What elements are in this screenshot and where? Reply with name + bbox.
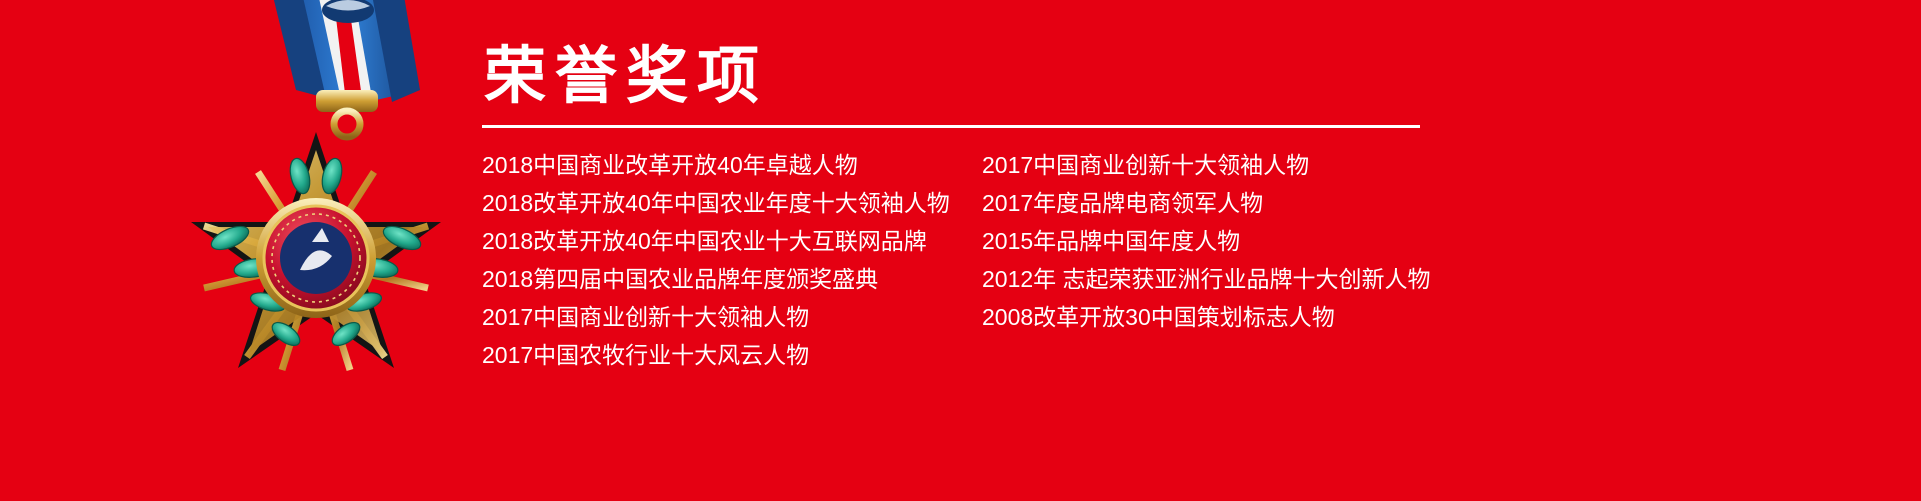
honor-medal-graphic	[120, 0, 480, 414]
medal-star	[191, 132, 441, 370]
award-item: 2018改革开放40年中国农业年度十大领袖人物	[482, 184, 982, 222]
banner-content: 荣誉奖项 2018中国商业改革开放40年卓越人物 2018改革开放40年中国农业…	[482, 44, 1902, 374]
award-item: 2018第四届中国农业品牌年度颁奖盛典	[482, 260, 982, 298]
award-item: 2008改革开放30中国策划标志人物	[982, 298, 1502, 336]
award-item: 2018改革开放40年中国农业十大互联网品牌	[482, 222, 982, 260]
awards-column-right: 2017中国商业创新十大领袖人物 2017年度品牌电商领军人物 2015年品牌中…	[982, 146, 1502, 374]
award-item: 2017中国农牧行业十大风云人物	[482, 336, 982, 374]
award-item: 2012年 志起荣获亚洲行业品牌十大创新人物	[982, 260, 1502, 298]
awards-list: 2018中国商业改革开放40年卓越人物 2018改革开放40年中国农业年度十大领…	[482, 146, 1902, 374]
medal-clasp	[316, 90, 378, 137]
page-title: 荣誉奖项	[484, 44, 1902, 109]
honor-awards-banner: 荣誉奖项 2018中国商业改革开放40年卓越人物 2018改革开放40年中国农业…	[0, 0, 1921, 501]
award-item: 2017中国商业创新十大领袖人物	[482, 298, 982, 336]
award-item: 2017年度品牌电商领军人物	[982, 184, 1502, 222]
award-item: 2017中国商业创新十大领袖人物	[982, 146, 1502, 184]
award-item: 2015年品牌中国年度人物	[982, 222, 1502, 260]
title-divider	[482, 125, 1420, 128]
award-item: 2018中国商业改革开放40年卓越人物	[482, 146, 982, 184]
awards-column-left: 2018中国商业改革开放40年卓越人物 2018改革开放40年中国农业年度十大领…	[482, 146, 982, 374]
